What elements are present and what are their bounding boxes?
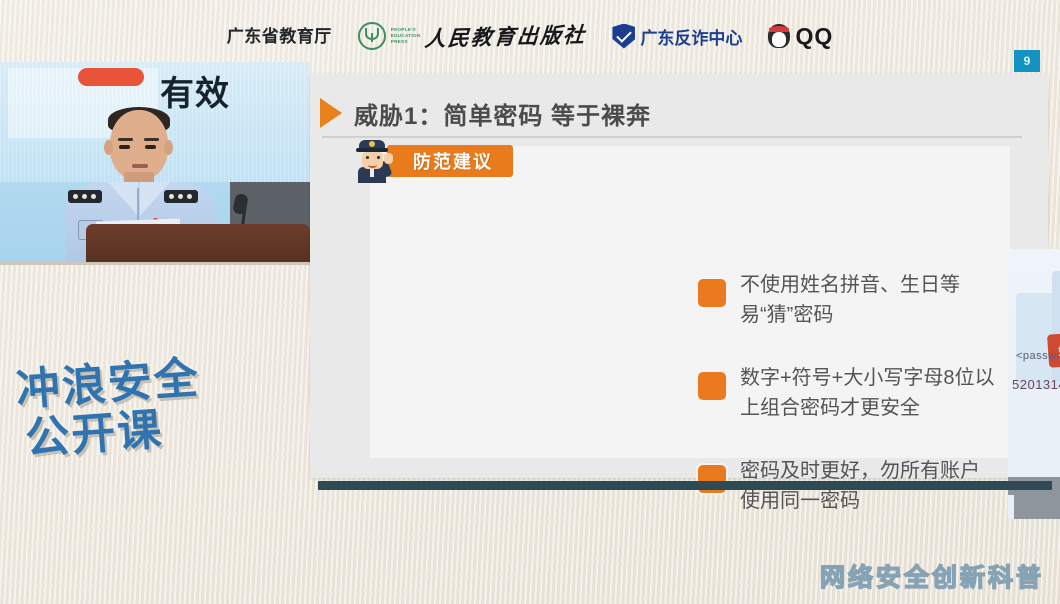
app-canvas: 广东省教育厅 PEOPLE'SEDUCATIONPRESS 人民教育出版社 广东… xyxy=(0,0,1060,604)
bullet-square-icon xyxy=(698,279,726,307)
shield-check-icon xyxy=(612,24,635,49)
advice-badge-label: 防范建议 xyxy=(413,148,493,174)
bullet-square-icon xyxy=(698,372,726,400)
logo-peoples-education-press: PEOPLE'SEDUCATIONPRESS 人民教育出版社 xyxy=(358,21,587,51)
bullet-text: 不使用姓名拼音、生日等易“猜”密码 xyxy=(740,270,995,330)
logo-qq: QQ xyxy=(768,23,833,50)
officer-pointing-hand xyxy=(384,153,393,164)
advice-bullet-list: 不使用姓名拼音、生日等易“猜”密码 数字+符号+大小写字母8位以上组合密码才更安… xyxy=(698,270,998,516)
speaker-epaulette-left xyxy=(68,190,102,203)
video-bottom-edge xyxy=(0,262,310,265)
pep-english-label: PEOPLE'SEDUCATIONPRESS xyxy=(391,27,421,46)
desk-drawers xyxy=(1014,495,1060,519)
slide-title: 威胁1：简单密码 等于裸奔 xyxy=(354,96,651,131)
officer-eye-left xyxy=(366,156,369,159)
list-item: 不使用姓名拼音、生日等易“猜”密码 xyxy=(698,270,998,330)
podium xyxy=(86,224,310,265)
speaker-brow-right xyxy=(144,138,159,141)
title-divider xyxy=(322,136,1022,138)
slide-page-number: 9 xyxy=(1014,50,1040,72)
logo-guangdong-education-dept: 广东省教育厅 xyxy=(227,28,332,45)
logo-guangdong-anti-fraud-center-label: 广东反诈中心 xyxy=(640,24,742,49)
speaker-eye-right xyxy=(145,145,156,149)
speaker-ear-left xyxy=(104,140,113,155)
logo-peoples-education-press-label: 人民教育出版社 xyxy=(424,19,588,53)
list-item: 数字+符号+大小写字母8位以上组合密码才更安全 xyxy=(698,363,998,423)
logo-guangdong-anti-fraud-center: 广东反诈中心 xyxy=(612,24,742,49)
speaker-video-thumbnail[interactable]: 有效 xyxy=(0,62,310,265)
police-officer-icon xyxy=(353,139,393,183)
qq-penguin-icon xyxy=(768,24,790,48)
officer-cap-brim xyxy=(356,148,388,152)
presentation-slide[interactable]: 威胁1：简单密码 等于裸奔 防范建议 xyxy=(310,74,1048,478)
pep-emblem-icon xyxy=(358,22,386,50)
advice-badge: 防范建议 xyxy=(353,144,513,178)
course-logo: 冲浪安全 公开课 xyxy=(14,349,283,477)
officer-cap-star-icon xyxy=(369,141,375,147)
code-label-password: <password> xyxy=(1016,350,1060,362)
officer-smile xyxy=(368,162,377,168)
speaker-ear-right xyxy=(164,140,173,155)
speaker-epaulette-right xyxy=(164,190,198,203)
speaker-mouth xyxy=(132,164,148,168)
backdrop-text: 有效 xyxy=(160,66,230,115)
watermark-text: 网络安全创新科普 xyxy=(820,558,1044,594)
backdrop-red-shape xyxy=(78,68,144,86)
speaker-eye-left xyxy=(119,145,130,149)
hacker-illustration: 姓名首字母+生日 12345678 <admin> <password> 520… xyxy=(1008,249,1060,519)
logo-qq-label: QQ xyxy=(795,23,833,50)
speaker-brow-left xyxy=(118,138,133,141)
slide-bottom-bar xyxy=(318,481,1052,490)
triangle-bullet-icon xyxy=(320,98,342,128)
logo-guangdong-education-dept-label: 广东省教育厅 xyxy=(227,28,332,45)
bullet-text: 数字+符号+大小写字母8位以上组合密码才更安全 xyxy=(740,363,995,423)
advice-badge-pill: 防范建议 xyxy=(387,145,513,177)
officer-eye-right xyxy=(377,156,380,159)
code-label-5201314: 5201314 xyxy=(1012,377,1060,392)
slide-title-row: 威胁1：简单密码 等于裸奔 xyxy=(320,92,1020,134)
